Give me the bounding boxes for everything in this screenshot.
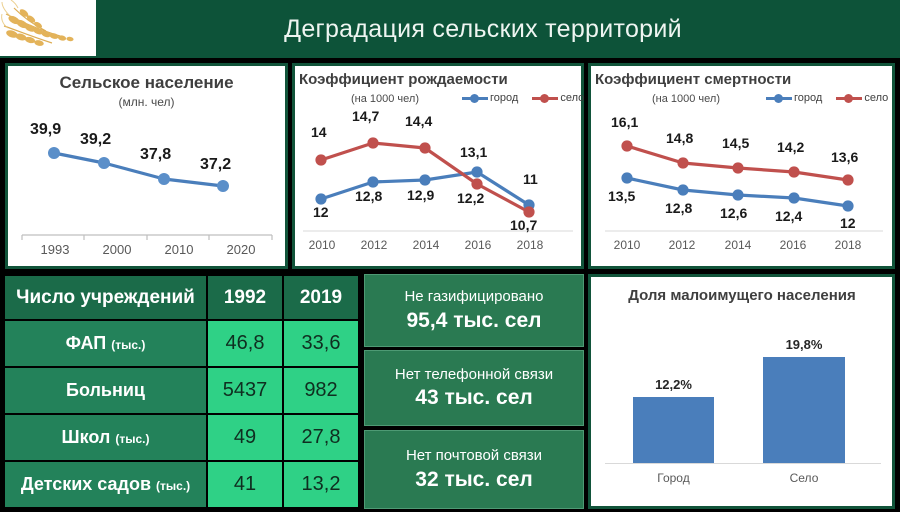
data-label-city-2018: 12 [840,215,856,231]
chart-title: Доля малоимущего населения [613,287,871,306]
x-tick-2020: 2020 [212,242,270,257]
birth-rate-plot [295,66,581,266]
row-name: Детских садов [21,474,151,494]
cell-hospitals-1992: 5437 [208,368,282,413]
x-tick-2012: 2012 [349,238,399,252]
data-label-pop-2000: 39,2 [80,131,111,149]
table-row: ФАП (тыс.) 46,8 33,6 [5,321,358,366]
table-header-label: Число учреждений [5,276,206,319]
slide-header: Деградация сельских территорий [0,0,900,58]
x-tick-2018: 2018 [505,238,555,252]
data-label-city-2010: 12 [313,204,329,220]
page-title: Деградация сельских территорий [96,0,900,58]
data-label-village-2016: 12,2 [457,190,484,206]
stat-box-post: Нет почтовой связи 32 тыс. сел [364,430,584,509]
data-label-city-2016: 12,4 [775,208,802,224]
data-label-pop-2020: 37,2 [200,156,231,174]
data-label-village-2018: 13,6 [831,149,858,165]
death-rate-plot [591,66,892,266]
population-plot [8,66,285,266]
table-header-row: Число учреждений 1992 2019 [5,276,358,319]
stat-value: 43 тыс. сел [415,386,532,409]
x-tick-2014: 2014 [401,238,451,252]
table-header-2019: 2019 [284,276,358,319]
institutions-table: Число учреждений 1992 2019 ФАП (тыс.) 46… [3,274,360,509]
x-tick-2012: 2012 [657,238,707,252]
table-row: Детских садов (тыс.) 41 13,2 [5,462,358,507]
cell-fap-1992: 46,8 [208,321,282,366]
bar-baseline [605,463,881,464]
bar-label-village: 19,8% [763,337,845,352]
slide: Деградация сельских территорий Сельское … [0,0,900,512]
data-label-city-2012: 12,8 [665,200,692,216]
x-tick-2000: 2000 [88,242,146,257]
chart-birth-rate: Коэффициент рождаемости (на 1000 чел) го… [292,63,584,269]
bar-village [763,357,845,463]
chart-death-rate: Коэффициент смертности (на 1000 чел) гор… [588,63,895,269]
cell-fap-2019: 33,6 [284,321,358,366]
x-tick-2014: 2014 [713,238,763,252]
table-row: Школ (тыс.) 49 27,8 [5,415,358,460]
data-label-village-2012: 14,7 [352,108,379,124]
cell-kindergartens-2019: 13,2 [284,462,358,507]
x-tick-2016: 2016 [453,238,503,252]
data-label-pop-2010: 37,8 [140,146,171,164]
data-label-village-2010: 16,1 [611,114,638,130]
stat-box-telephone: Нет телефонной связи 43 тыс. сел [364,350,584,426]
cell-schools-2019: 27,8 [284,415,358,460]
bar-category-city: Город [633,471,714,485]
stat-caption: Нет телефонной связи [395,367,553,384]
data-label-city-2016: 13,1 [460,144,487,160]
bar-city [633,397,714,463]
data-label-city-2010: 13,5 [608,188,635,204]
row-name: Школ [62,427,111,447]
table-row: Больниц 5437 982 [5,368,358,413]
x-tick-1993: 1993 [26,242,84,257]
data-label-city-2014: 12,9 [407,187,434,203]
x-tick-2016: 2016 [768,238,818,252]
chart-rural-population: Сельское население (млн. чел) 39,9 39,2 … [5,63,288,269]
data-label-village-2012: 14,8 [666,130,693,146]
row-label-hospitals: Больниц [5,368,206,413]
data-label-village-2014: 14,5 [722,135,749,151]
stat-value: 32 тыс. сел [415,468,532,491]
row-label-fap: ФАП (тыс.) [5,321,206,366]
data-label-village-2010: 14 [311,124,327,140]
row-name: Больниц [66,380,145,400]
bar-label-city: 12,2% [633,377,714,392]
data-label-city-2012: 12,8 [355,188,382,204]
table-header-1992: 1992 [208,276,282,319]
bar-category-village: Село [763,471,845,485]
chart-poor-share: Доля малоимущего населения 12,2% 19,8% Г… [588,274,895,509]
institutions-table-panel: Число учреждений 1992 2019 ФАП (тыс.) 46… [3,274,360,509]
x-tick-2010: 2010 [150,242,208,257]
stat-box-gasification: Не газифицировано 95,4 тыс. сел [364,274,584,347]
row-label-kindergartens: Детских садов (тыс.) [5,462,206,507]
data-label-pop-1993: 39,9 [30,121,61,139]
data-label-village-2018: 10,7 [510,217,537,233]
x-tick-2010: 2010 [602,238,652,252]
wheat-ears-image [0,0,96,56]
data-label-city-2018: 11 [523,171,538,187]
row-unit: (тыс.) [156,479,190,493]
row-name: ФАП [66,333,107,353]
row-label-schools: Школ (тыс.) [5,415,206,460]
data-label-village-2014: 14,4 [405,113,432,129]
stat-caption: Нет почтовой связи [406,448,542,465]
data-label-village-2016: 14,2 [777,139,804,155]
x-tick-2018: 2018 [823,238,873,252]
cell-kindergartens-1992: 41 [208,462,282,507]
row-unit: (тыс.) [115,432,149,446]
row-unit: (тыс.) [111,338,145,352]
x-tick-2010: 2010 [297,238,347,252]
data-label-city-2014: 12,6 [720,205,747,221]
cell-schools-1992: 49 [208,415,282,460]
cell-hospitals-2019: 982 [284,368,358,413]
stat-value: 95,4 тыс. сел [407,309,542,332]
stat-caption: Не газифицировано [404,289,543,306]
wheat-icon [0,0,96,56]
